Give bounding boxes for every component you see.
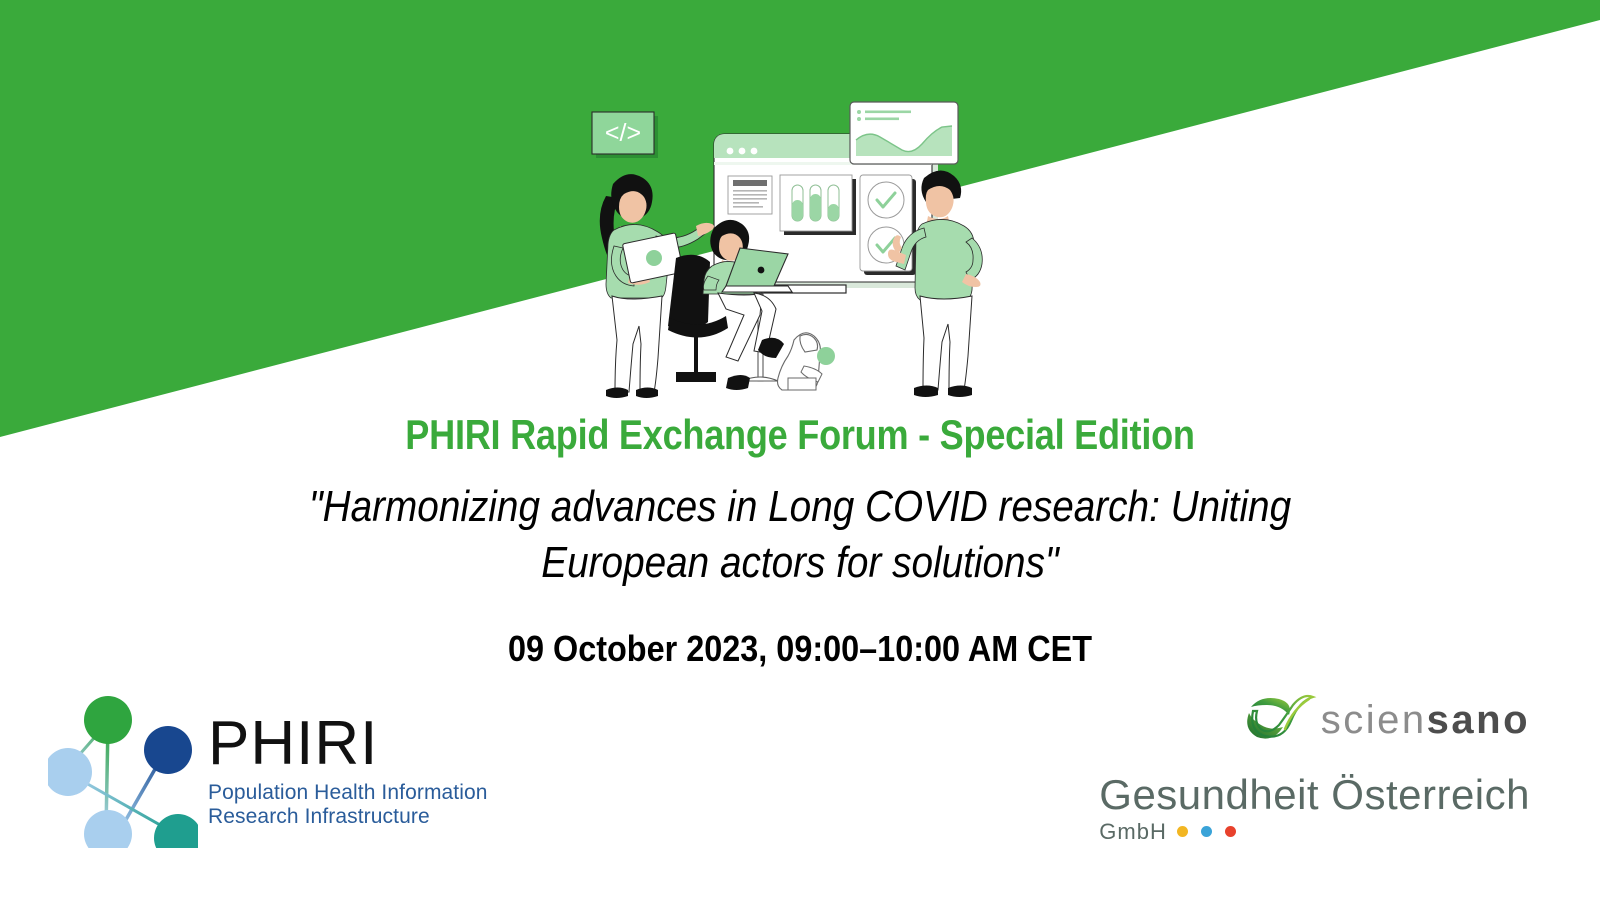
- goeg-subline: GmbH: [1099, 819, 1530, 845]
- phiri-node-lightblue-bottom: [84, 810, 132, 848]
- sciensano-word-bold: sano: [1427, 698, 1530, 742]
- event-subtitle: "Harmonizing advances in Long COVID rese…: [96, 479, 1504, 590]
- text-document-card: [728, 176, 772, 214]
- goeg-gmbh-label: GmbH: [1099, 819, 1167, 845]
- page-title: PHIRI Rapid Exchange Forum - Special Edi…: [112, 412, 1488, 457]
- dot-yellow-icon: [1177, 826, 1188, 837]
- bar-gauge-card: [780, 175, 856, 235]
- sciensano-leaf-icon: [1239, 683, 1319, 745]
- sciensano-wordmark: sciensano: [1321, 700, 1530, 740]
- phiri-wordmark: PHIRI Population Health Information Rese…: [208, 707, 488, 830]
- phiri-name: PHIRI: [208, 715, 488, 774]
- partner-logos: sciensano Gesundheit Österreich GmbH: [1060, 680, 1530, 855]
- phiri-logo: PHIRI Population Health Information Rese…: [48, 688, 498, 848]
- phiri-node-green: [84, 696, 132, 744]
- sciensano-word-light: scien: [1321, 698, 1427, 742]
- dot-blue-icon: [1201, 826, 1212, 837]
- phiri-node-teal: [154, 814, 198, 848]
- event-subtitle-line2: European actors for solutions": [228, 535, 1372, 590]
- poster-text-block: PHIRI Rapid Exchange Forum - Special Edi…: [0, 412, 1600, 670]
- goeg-dots: [1177, 826, 1236, 837]
- phiri-network-icon: [48, 688, 198, 848]
- svg-text:</>: </>: [605, 119, 641, 147]
- phiri-node-darkblue: [144, 726, 192, 774]
- phiri-tagline-line1: Population Health Information: [208, 781, 488, 805]
- team-data-collaboration-illustration: </>: [568, 78, 998, 403]
- code-tag-badge: </>: [592, 112, 658, 158]
- event-datetime: 09 October 2023, 09:00–10:00 AM CET: [80, 628, 1520, 670]
- phiri-tagline: Population Health Information Research I…: [208, 781, 488, 830]
- area-chart-card: [850, 102, 958, 164]
- event-subtitle-line1: "Harmonizing advances in Long COVID rese…: [228, 479, 1372, 534]
- dot-red-icon: [1225, 826, 1236, 837]
- phiri-node-lightblue-left: [48, 748, 92, 796]
- sciensano-logo: sciensano: [1239, 680, 1530, 748]
- dog-with-ball: [778, 333, 836, 390]
- phiri-tagline-line2: Research Infrastructure: [208, 805, 488, 829]
- goeg-name: Gesundheit Österreich: [1099, 774, 1530, 817]
- goeg-logo: Gesundheit Österreich GmbH: [1099, 774, 1530, 845]
- event-announcement-poster: </>: [0, 0, 1600, 900]
